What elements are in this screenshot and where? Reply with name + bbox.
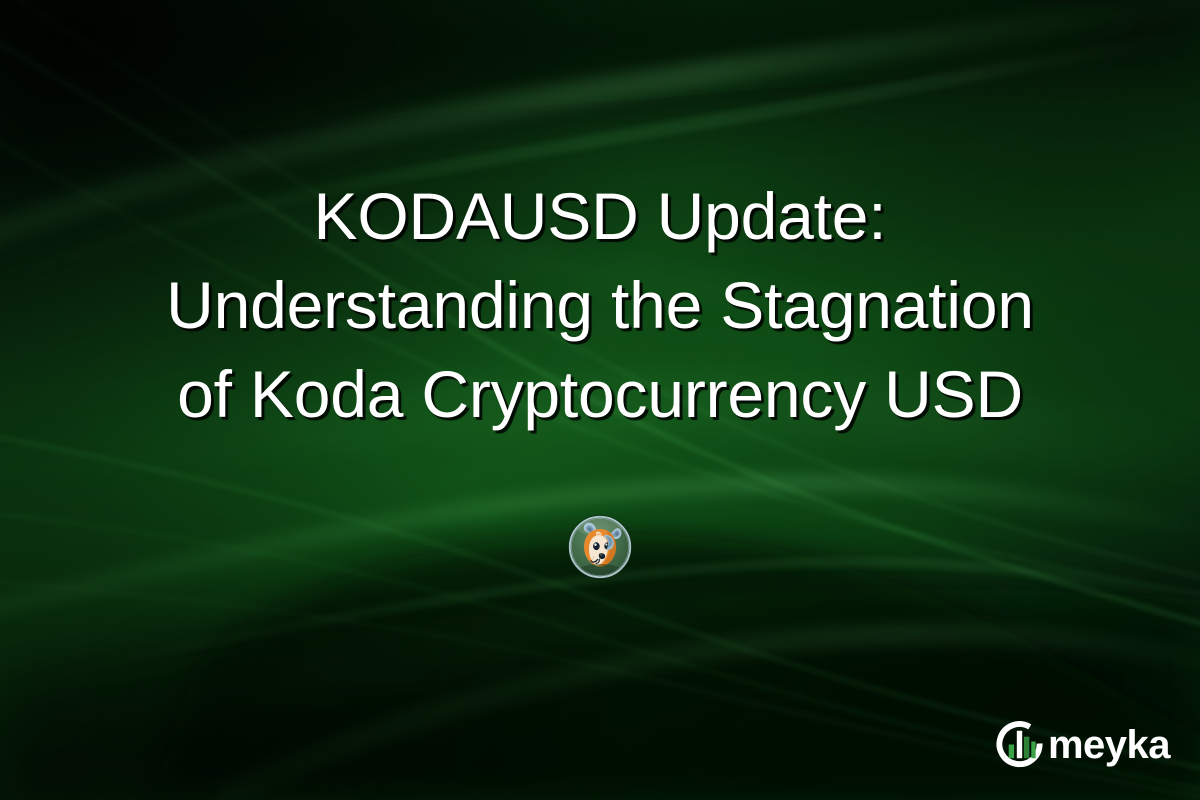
meyka-circle-barchart-logo	[995, 719, 1044, 768]
meyka-brand-logo[interactable]: meyka	[995, 719, 1170, 768]
title-line-1: KODAUSD Update:	[0, 172, 1200, 261]
page-title: KODAUSD Update: Understanding the Stagna…	[0, 172, 1200, 439]
article-hero-banner: KODAUSD Update: Understanding the Stagna…	[0, 0, 1200, 800]
koda-shiba-dog-coin-icon	[566, 513, 634, 581]
title-line-3: of Koda Cryptocurrency USD	[0, 350, 1200, 439]
brand-name-text: meyka	[1048, 725, 1170, 765]
title-line-2: Understanding the Stagnation	[0, 261, 1200, 350]
